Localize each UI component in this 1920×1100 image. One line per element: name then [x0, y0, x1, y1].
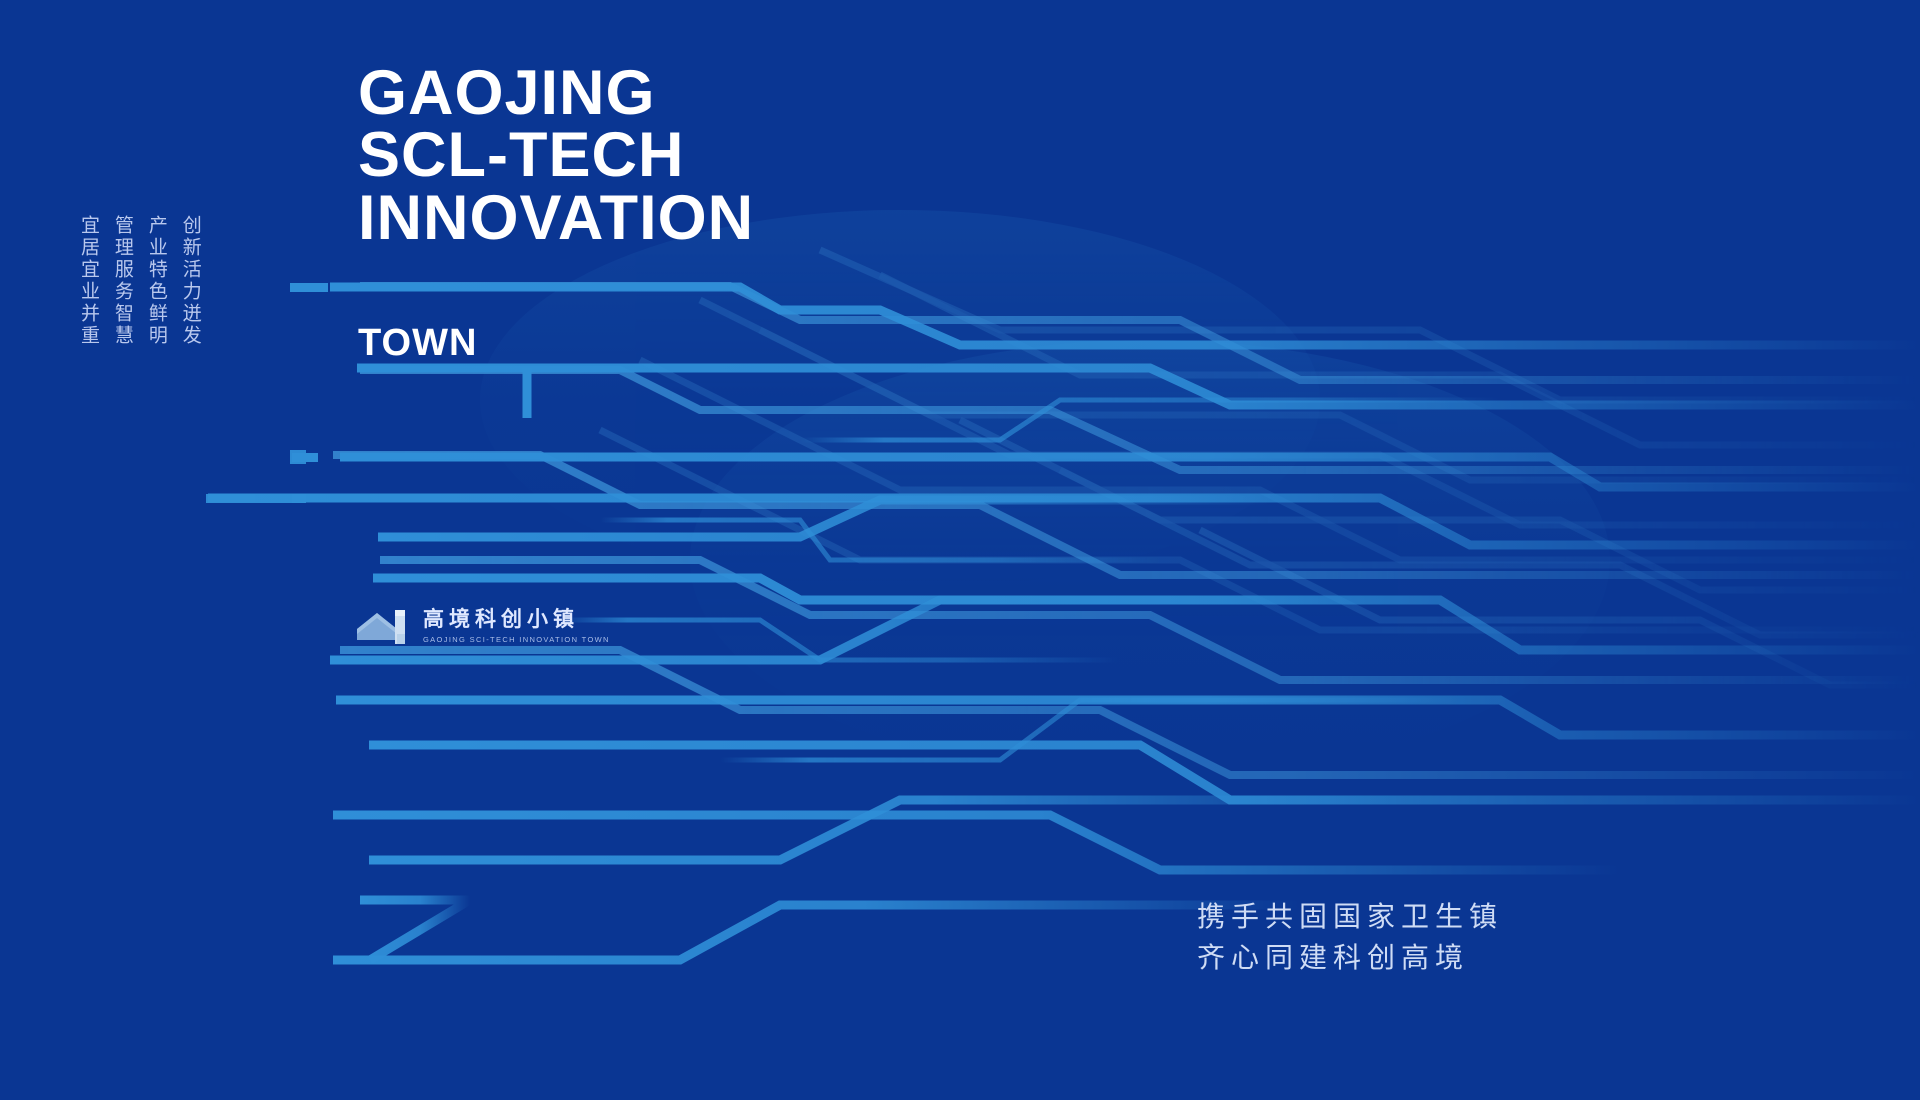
circuit-line-artwork — [0, 0, 1920, 1100]
bottom-slogan: 携手共固国家卫生镇 齐心同建科创高境 — [1197, 897, 1503, 978]
vertical-slogan: 创新活力迸发 产业特色鲜明 管理服务智慧 宜居宜业并重 — [78, 215, 200, 347]
vertical-slogan-col-1: 创新活力迸发 — [180, 215, 200, 347]
vertical-slogan-col-3: 管理服务智慧 — [112, 215, 132, 347]
poster-canvas: 创新活力迸发 产业特色鲜明 管理服务智慧 宜居宜业并重 GAOJING SCL-… — [0, 0, 1920, 1100]
headline-line-2: SCL-TECH — [358, 124, 754, 186]
dash-marks — [290, 283, 328, 503]
dash-marks-secondary — [206, 450, 306, 503]
vertical-slogan-col-2: 产业特色鲜明 — [146, 215, 166, 347]
headline-line-1: GAOJING — [358, 62, 754, 124]
headline-line-4: TOWN — [358, 322, 477, 365]
bottom-slogan-line-1: 携手共固国家卫生镇 — [1197, 897, 1503, 938]
vertical-slogan-col-4: 宜居宜业并重 — [78, 215, 98, 347]
logo-english-name: GAOJING SCI-TECH INNOVATION TOWN — [423, 635, 610, 644]
logo-text-block: 高境科创小镇 GAOJING SCI-TECH INNOVATION TOWN — [423, 608, 610, 643]
headline-line-3: INNOVATION — [358, 187, 754, 249]
bottom-slogan-line-2: 齐心同建科创高境 — [1197, 938, 1503, 979]
house-icon — [355, 604, 413, 648]
brand-logo: 高境科创小镇 GAOJING SCI-TECH INNOVATION TOWN — [355, 604, 610, 648]
logo-chinese-name: 高境科创小镇 — [423, 608, 610, 631]
page-title: GAOJING SCL-TECH INNOVATION — [358, 62, 754, 249]
